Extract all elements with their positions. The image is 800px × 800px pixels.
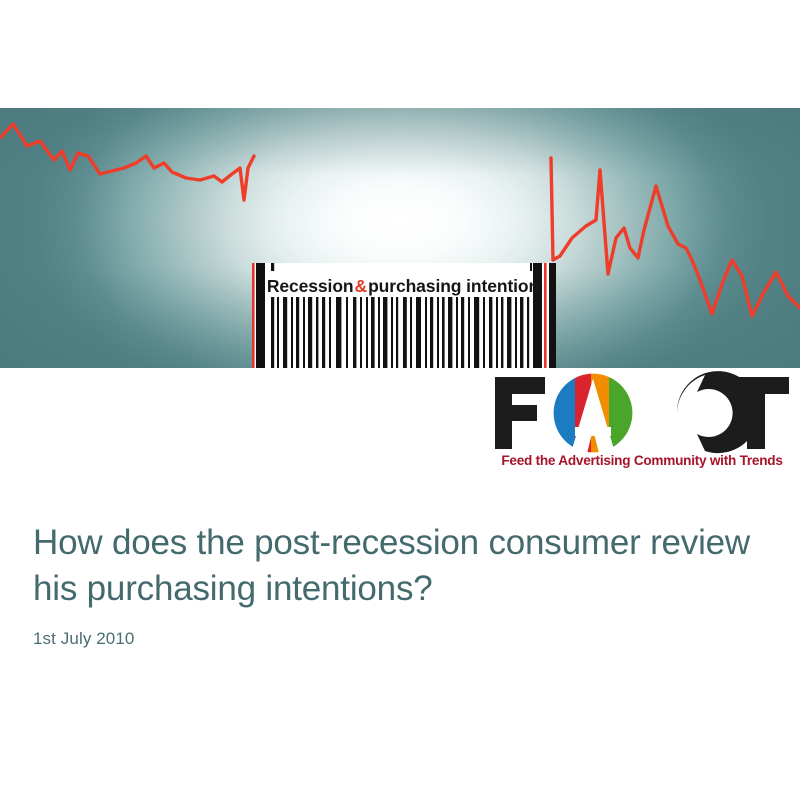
barcode-graphic: Recession & purchasing intention: [240, 263, 562, 368]
title-block: How does the post-recession consumer rev…: [33, 520, 763, 649]
barcode-label-ampersand: &: [354, 276, 369, 297]
fact-logo: Feed the Advertising Community with Tren…: [487, 371, 797, 479]
page-title: How does the post-recession consumer rev…: [33, 520, 763, 611]
fact-wordmark-icon: [487, 371, 797, 455]
barcode-label-suffix: purchasing intention: [368, 276, 539, 297]
logo-letter-a-icon: [553, 373, 633, 453]
barcode-label: Recession & purchasing intention: [264, 273, 542, 299]
fact-logo-tagline: Feed the Advertising Community with Tren…: [487, 453, 797, 468]
logo-letter-f-icon: [495, 377, 545, 449]
publication-date: 1st July 2010: [33, 629, 763, 649]
recession-banner-image: Recession & purchasing intention: [0, 108, 800, 368]
trend-line-right: [551, 158, 800, 316]
barcode-label-prefix: Recession: [267, 276, 354, 297]
title-slide: Recession & purchasing intention: [0, 0, 800, 800]
trend-line-left: [0, 124, 254, 200]
